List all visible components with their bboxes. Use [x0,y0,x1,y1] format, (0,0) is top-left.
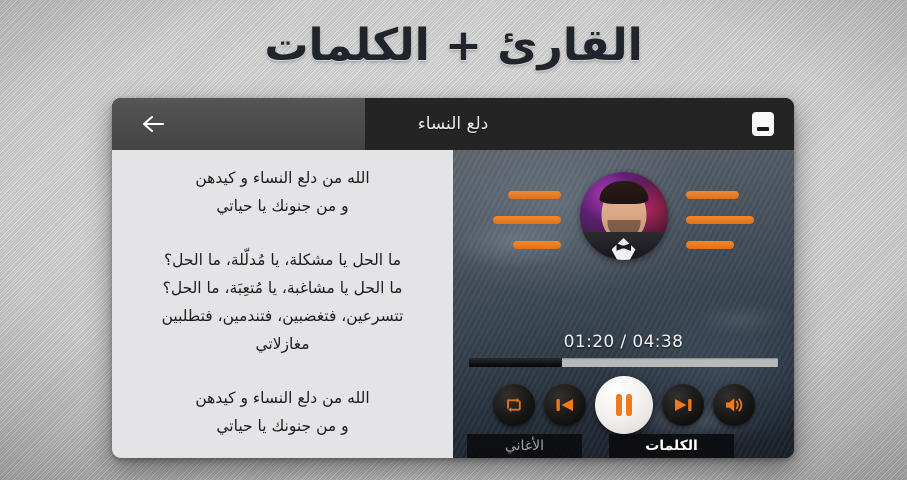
progress-bar[interactable] [469,358,778,367]
player-controls [453,378,794,432]
lyrics-text: الله من دلع النساء و كيدهن و من جنونك يا… [112,150,453,440]
equalizer-right [686,191,772,249]
skip-next-icon [672,395,694,415]
previous-button[interactable] [544,384,586,426]
volume-icon [723,395,745,415]
lyrics-panel[interactable]: الله من دلع النساء و كيدهن و من جنونك يا… [112,150,453,458]
equalizer-bar [508,191,561,199]
lyrics-line: تتسرعين، فتغضبين، فتندمين، فتطلبين [162,307,404,325]
app-promo-screenshot: القارئ + الكلمات دلع النساء [0,0,907,480]
banner: القارئ + الكلمات [0,20,907,72]
pause-icon [612,392,636,418]
equalizer-bar [513,241,561,249]
avatar [580,172,668,260]
repeat-button[interactable] [493,384,535,426]
app-header-bar: دلع النساء [112,98,794,150]
lyrics-line: مغازلاتي [255,335,309,353]
progress-bar-fill [469,358,562,367]
avatar-hair [599,181,648,204]
lyrics-stanza: الله من دلع النساء و كيدهن و من جنونك يا… [130,384,435,440]
volume-button[interactable] [713,384,755,426]
lyrics-stanza: ما الحل يا مشكلة، يا مُدلّلة، ما الحل؟ م… [130,246,435,358]
equalizer-left [475,191,561,249]
artwork-area [453,172,794,268]
player-tabs: الأغاني الكلمات [453,434,794,458]
equalizer-bar [686,191,739,199]
minimize-button[interactable] [748,109,778,139]
player-panel: 01:20 / 04:38 [453,150,794,458]
lyrics-line: الله من دلع النساء و كيدهن [195,169,369,187]
play-pause-button[interactable] [595,376,653,434]
arrow-left-icon [141,114,165,134]
repeat-icon [504,395,524,415]
time-display: 01:20 / 04:38 [453,332,794,352]
lyrics-line: ما الحل يا مشاغبة، يا مُتعِبَة، ما الحل؟ [163,279,403,297]
back-button[interactable] [130,98,176,150]
page-title: القارئ + الكلمات [264,20,642,72]
minimize-icon [752,112,774,136]
next-button[interactable] [662,384,704,426]
skip-previous-icon [554,395,576,415]
tab-songs[interactable]: الأغاني [467,434,582,458]
equalizer-bar [686,216,754,224]
tab-lyrics[interactable]: الكلمات [609,434,734,458]
phone-mockup: دلع النساء الله من دلع النساء و كيدهن و … [112,98,794,458]
equalizer-bar [686,241,734,249]
app-body: الله من دلع النساء و كيدهن و من جنونك يا… [112,150,794,458]
lyrics-line: ما الحل يا مشكلة، يا مُدلّلة، ما الحل؟ [164,251,401,269]
lyrics-stanza: الله من دلع النساء و كيدهن و من جنونك يا… [130,164,435,220]
lyrics-line: الله من دلع النساء و كيدهن [195,389,369,407]
equalizer-bar [493,216,561,224]
lyrics-line: و من جنونك يا حياتي [216,197,348,215]
lyrics-line: و من جنونك يا حياتي [216,417,348,435]
